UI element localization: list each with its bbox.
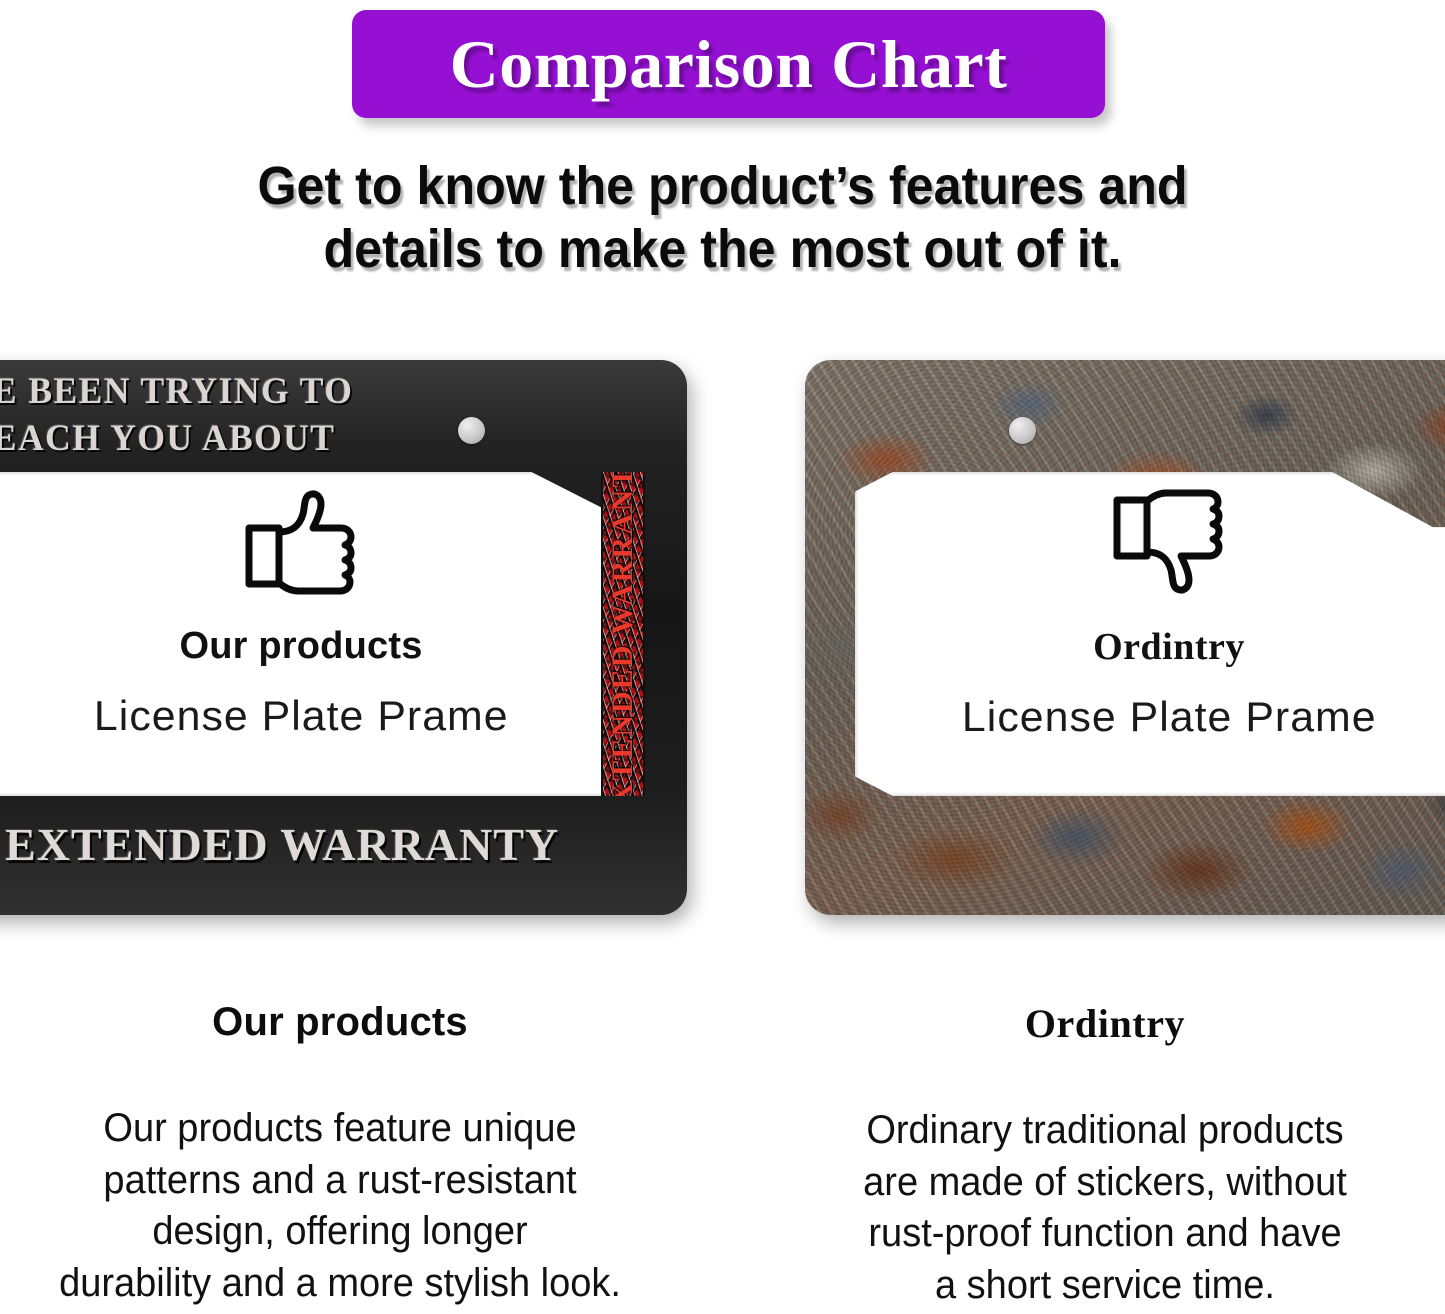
ordinary-column-body: Ordinary traditional products are made o… <box>773 1105 1438 1311</box>
ordinary-body-line-3: rust-proof function and have <box>805 1208 1405 1260</box>
plate-top-line-2: REACH YOU ABOUT <box>0 415 662 462</box>
mounting-hole-icon <box>1009 417 1036 444</box>
plate-top-slogan: VE BEEN TRYING TO REACH YOU ABOUT <box>0 368 662 463</box>
title-banner: Comparison Chart <box>352 10 1105 118</box>
our-products-body-line-3: design, offering longer <box>46 1206 635 1258</box>
plate-bottom-slogan: S EXTENDED WARRANTY <box>0 818 687 871</box>
our-product-frame: VE BEEN TRYING TO REACH YOU ABOUT Our pr… <box>0 360 687 915</box>
thumbs-up-icon <box>242 488 360 601</box>
our-product-brand-label: Our products <box>179 625 422 668</box>
ordinary-description-column: Ordintry Ordinary traditional products a… <box>755 1000 1445 1311</box>
plate-window-left: Our products License Plate Prame <box>0 472 640 796</box>
plate-window-content-left: Our products License Plate Prame <box>0 472 640 796</box>
license-plate-frame-rust: Ordintry License Plate Prame <box>805 360 1445 915</box>
our-products-description-column: Our products Our products feature unique… <box>0 1000 690 1309</box>
plate-window-content-right: Ordintry License Plate Prame <box>855 472 1445 796</box>
ordinary-body-line-2: are made of stickers, without <box>805 1157 1405 1209</box>
side-strip-text: EXTENDED WARRANTY <box>606 472 640 796</box>
subtitle-line-1: Get to know the product’s features and <box>51 155 1395 218</box>
our-products-column-title: Our products <box>0 1000 690 1045</box>
our-products-body-line-4: durability and a more stylish look. <box>46 1258 635 1310</box>
ordinary-column-title: Ordintry <box>755 1000 1445 1047</box>
plate-window-right: Ordintry License Plate Prame <box>855 472 1445 796</box>
ordinary-brand-label: Ordintry <box>1093 625 1245 669</box>
subtitle: Get to know the product’s features and d… <box>51 155 1395 280</box>
ordinary-product-label: License Plate Prame <box>962 693 1377 741</box>
plate-top-line-1: VE BEEN TRYING TO <box>0 368 662 415</box>
subtitle-line-2: details to make the most out of it. <box>51 218 1395 281</box>
extended-warranty-side-strip: EXTENDED WARRANTY <box>601 472 645 796</box>
ordinary-body-line-4: a short service time. <box>805 1260 1405 1312</box>
license-plate-frame-black: VE BEEN TRYING TO REACH YOU ABOUT Our pr… <box>0 360 687 915</box>
mounting-hole-icon <box>458 417 485 444</box>
ordinary-product-frame: Ordintry License Plate Prame <box>805 360 1445 915</box>
ordinary-body-line-1: Ordinary traditional products <box>805 1105 1405 1157</box>
thumbs-down-icon <box>1110 488 1228 601</box>
our-products-body-line-1: Our products feature unique <box>46 1103 635 1155</box>
our-product-product-label: License Plate Prame <box>94 692 509 740</box>
our-products-body-line-2: patterns and a rust-resistant <box>46 1155 635 1207</box>
our-products-column-body: Our products feature unique patterns and… <box>8 1103 673 1309</box>
page-title: Comparison Chart <box>450 30 1008 98</box>
